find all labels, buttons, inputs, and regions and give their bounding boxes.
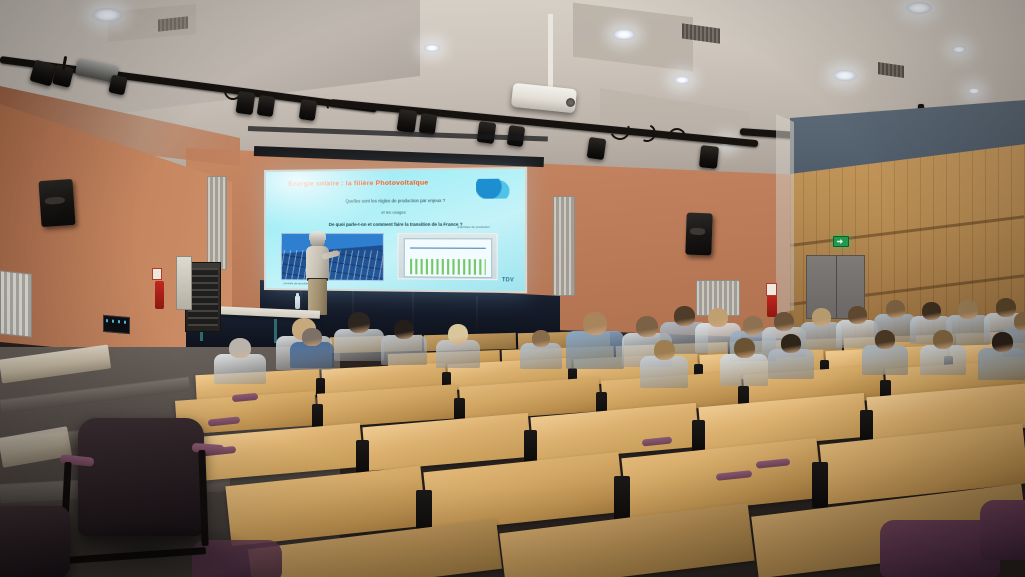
projector-lens-icon [566,98,575,107]
ceiling-downlight [92,8,122,22]
stage-light[interactable] [587,137,607,160]
audience-member-head [394,320,414,339]
audience-member-head [922,302,941,320]
audience-member-head [743,316,763,335]
seat-support [356,440,369,474]
stage-light[interactable] [397,109,418,133]
wall-speaker [38,179,75,227]
slide-image-chart [397,234,497,281]
audience-member-head [992,332,1013,352]
slide-subtitle-2: et les usages [336,210,453,216]
audience-member-head [958,300,978,319]
fire-extinguisher [155,281,164,309]
wall-control-panel[interactable] [103,315,130,334]
stage-light[interactable] [477,121,497,144]
equipment-rack-panel [176,256,192,310]
fire-extinguisher-sign [152,268,162,280]
slide-logo-secondary: TDV [502,277,514,283]
audience-member [520,330,562,373]
water-bottle [295,296,300,309]
foreground-chair[interactable] [78,418,204,536]
slide-credit-right: graphique de production [457,225,489,229]
audience-member [566,312,624,373]
foreground-chair[interactable] [0,506,70,577]
wall-radiator [553,196,575,296]
ceiling-downlight [952,46,966,53]
seat-support [524,430,537,464]
audience-member-head [229,338,251,358]
audience-member [920,330,966,379]
audience-member-head [812,308,831,326]
fire-extinguisher-sign [766,283,777,296]
audience-member-body [862,345,908,375]
audience-member [290,328,334,372]
audience-member-body [920,345,966,375]
slide-chart-plot [404,238,492,278]
audience-member-head [708,308,728,327]
slide-logo-primary [476,179,511,199]
audience-member-head [848,306,867,324]
slide-chart-line [410,247,486,248]
ceiling-downlight [674,76,690,84]
presenter [303,232,333,314]
stage-light[interactable] [699,145,719,169]
audience-member-body [640,356,688,388]
ceiling-downlight [906,2,932,14]
audience-member [334,312,384,365]
seat-cushion[interactable] [980,500,1025,560]
audience-member-body [436,340,480,368]
seat-support [614,476,630,522]
audience-member-body [720,354,768,386]
audience-member-head [875,330,895,349]
audience-member [720,338,768,390]
audience-member-head [636,316,658,337]
audience-member [862,330,908,379]
ceiling-downlight [613,29,635,40]
wall-radiator [207,176,227,270]
ceiling-downlight [968,88,980,94]
stage-light[interactable] [299,99,318,121]
audience-member-head [781,334,801,353]
stage-light[interactable] [257,95,276,117]
wall-vent-grille [0,270,32,337]
audience-member [640,340,688,392]
seat-row-near[interactable] [423,452,624,532]
audience-member-head [448,324,468,344]
audience-member-body [381,335,427,365]
exit-sign [833,236,849,247]
audience-member-head [1014,312,1025,331]
stage-light[interactable] [236,91,256,115]
slide-subtitle-1: Quelles sont les règles de production pa… [306,197,487,203]
audience-member-head [302,328,322,346]
wall-speaker [685,213,712,256]
audience-member-body [768,349,814,379]
projector-mount-pole [548,14,553,90]
audience-member-body [334,329,384,361]
audience-member [768,334,814,383]
slide-title: Energie solaire : la filière Photovoltaï… [288,179,473,188]
audience-member-body [978,348,1025,380]
presenter-torso [306,246,329,281]
audience-member-head [583,312,607,335]
right-wall-edge [776,114,794,314]
audience-member-body [566,331,624,369]
audience-member-head [674,306,695,326]
audience-member [978,332,1025,384]
seat-support [812,462,828,508]
lecture-hall-scene: Energie solaire : la filière Photovoltaï… [0,0,1025,577]
audience-member-head [734,338,755,358]
audience-member [214,338,266,388]
audience-member-head [774,312,794,331]
presenter-hair [309,231,326,240]
audience-member-head [933,330,953,349]
audience-member [436,324,480,372]
audience-member-body [214,354,266,384]
audience-member [381,320,427,369]
ceiling-downlight [424,44,440,52]
audience-member-head [532,330,550,347]
audience-member-head [348,312,370,333]
ceiling-downlight [833,70,857,81]
slide-chart-bars [410,258,486,274]
audience-member-head [886,300,905,318]
audience-member-head [654,340,675,360]
